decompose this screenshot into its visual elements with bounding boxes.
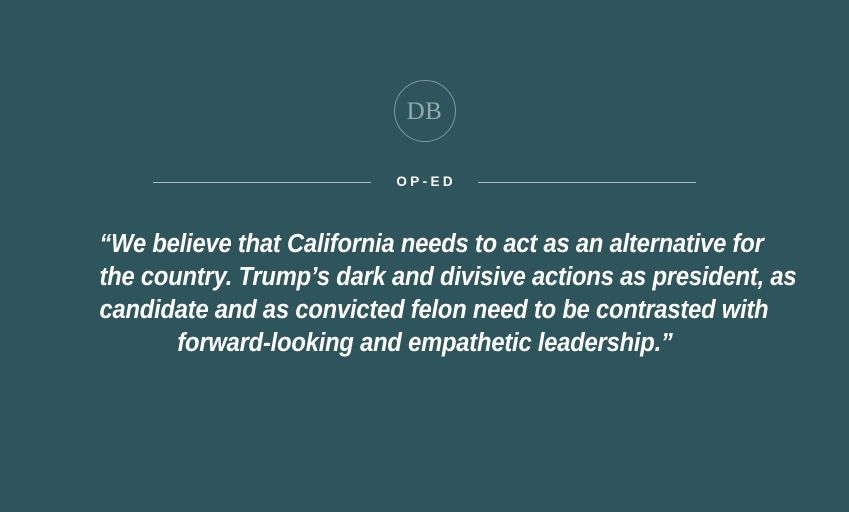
pull-quote: “We believe that California needs to act… xyxy=(75,228,775,360)
quote-line: candidate and as convicted felon need to… xyxy=(99,294,750,327)
logo-block: DB xyxy=(0,80,849,142)
kicker-label: OP-ED xyxy=(371,173,478,191)
kicker-rule-left xyxy=(153,182,371,183)
quote-card: DB OP-ED “We believe that California nee… xyxy=(0,0,849,512)
quote-line: “We believe that California needs to act… xyxy=(99,228,750,261)
quote-line: forward-looking and empathetic leadershi… xyxy=(99,327,750,360)
kicker-block: OP-ED xyxy=(0,173,849,191)
quote-line: the country. Trump’s dark and divisive a… xyxy=(99,261,750,294)
logo-circle-icon[interactable]: DB xyxy=(394,80,456,142)
kicker-rule-right xyxy=(478,182,696,183)
logo-monogram-text: DB xyxy=(407,99,443,124)
